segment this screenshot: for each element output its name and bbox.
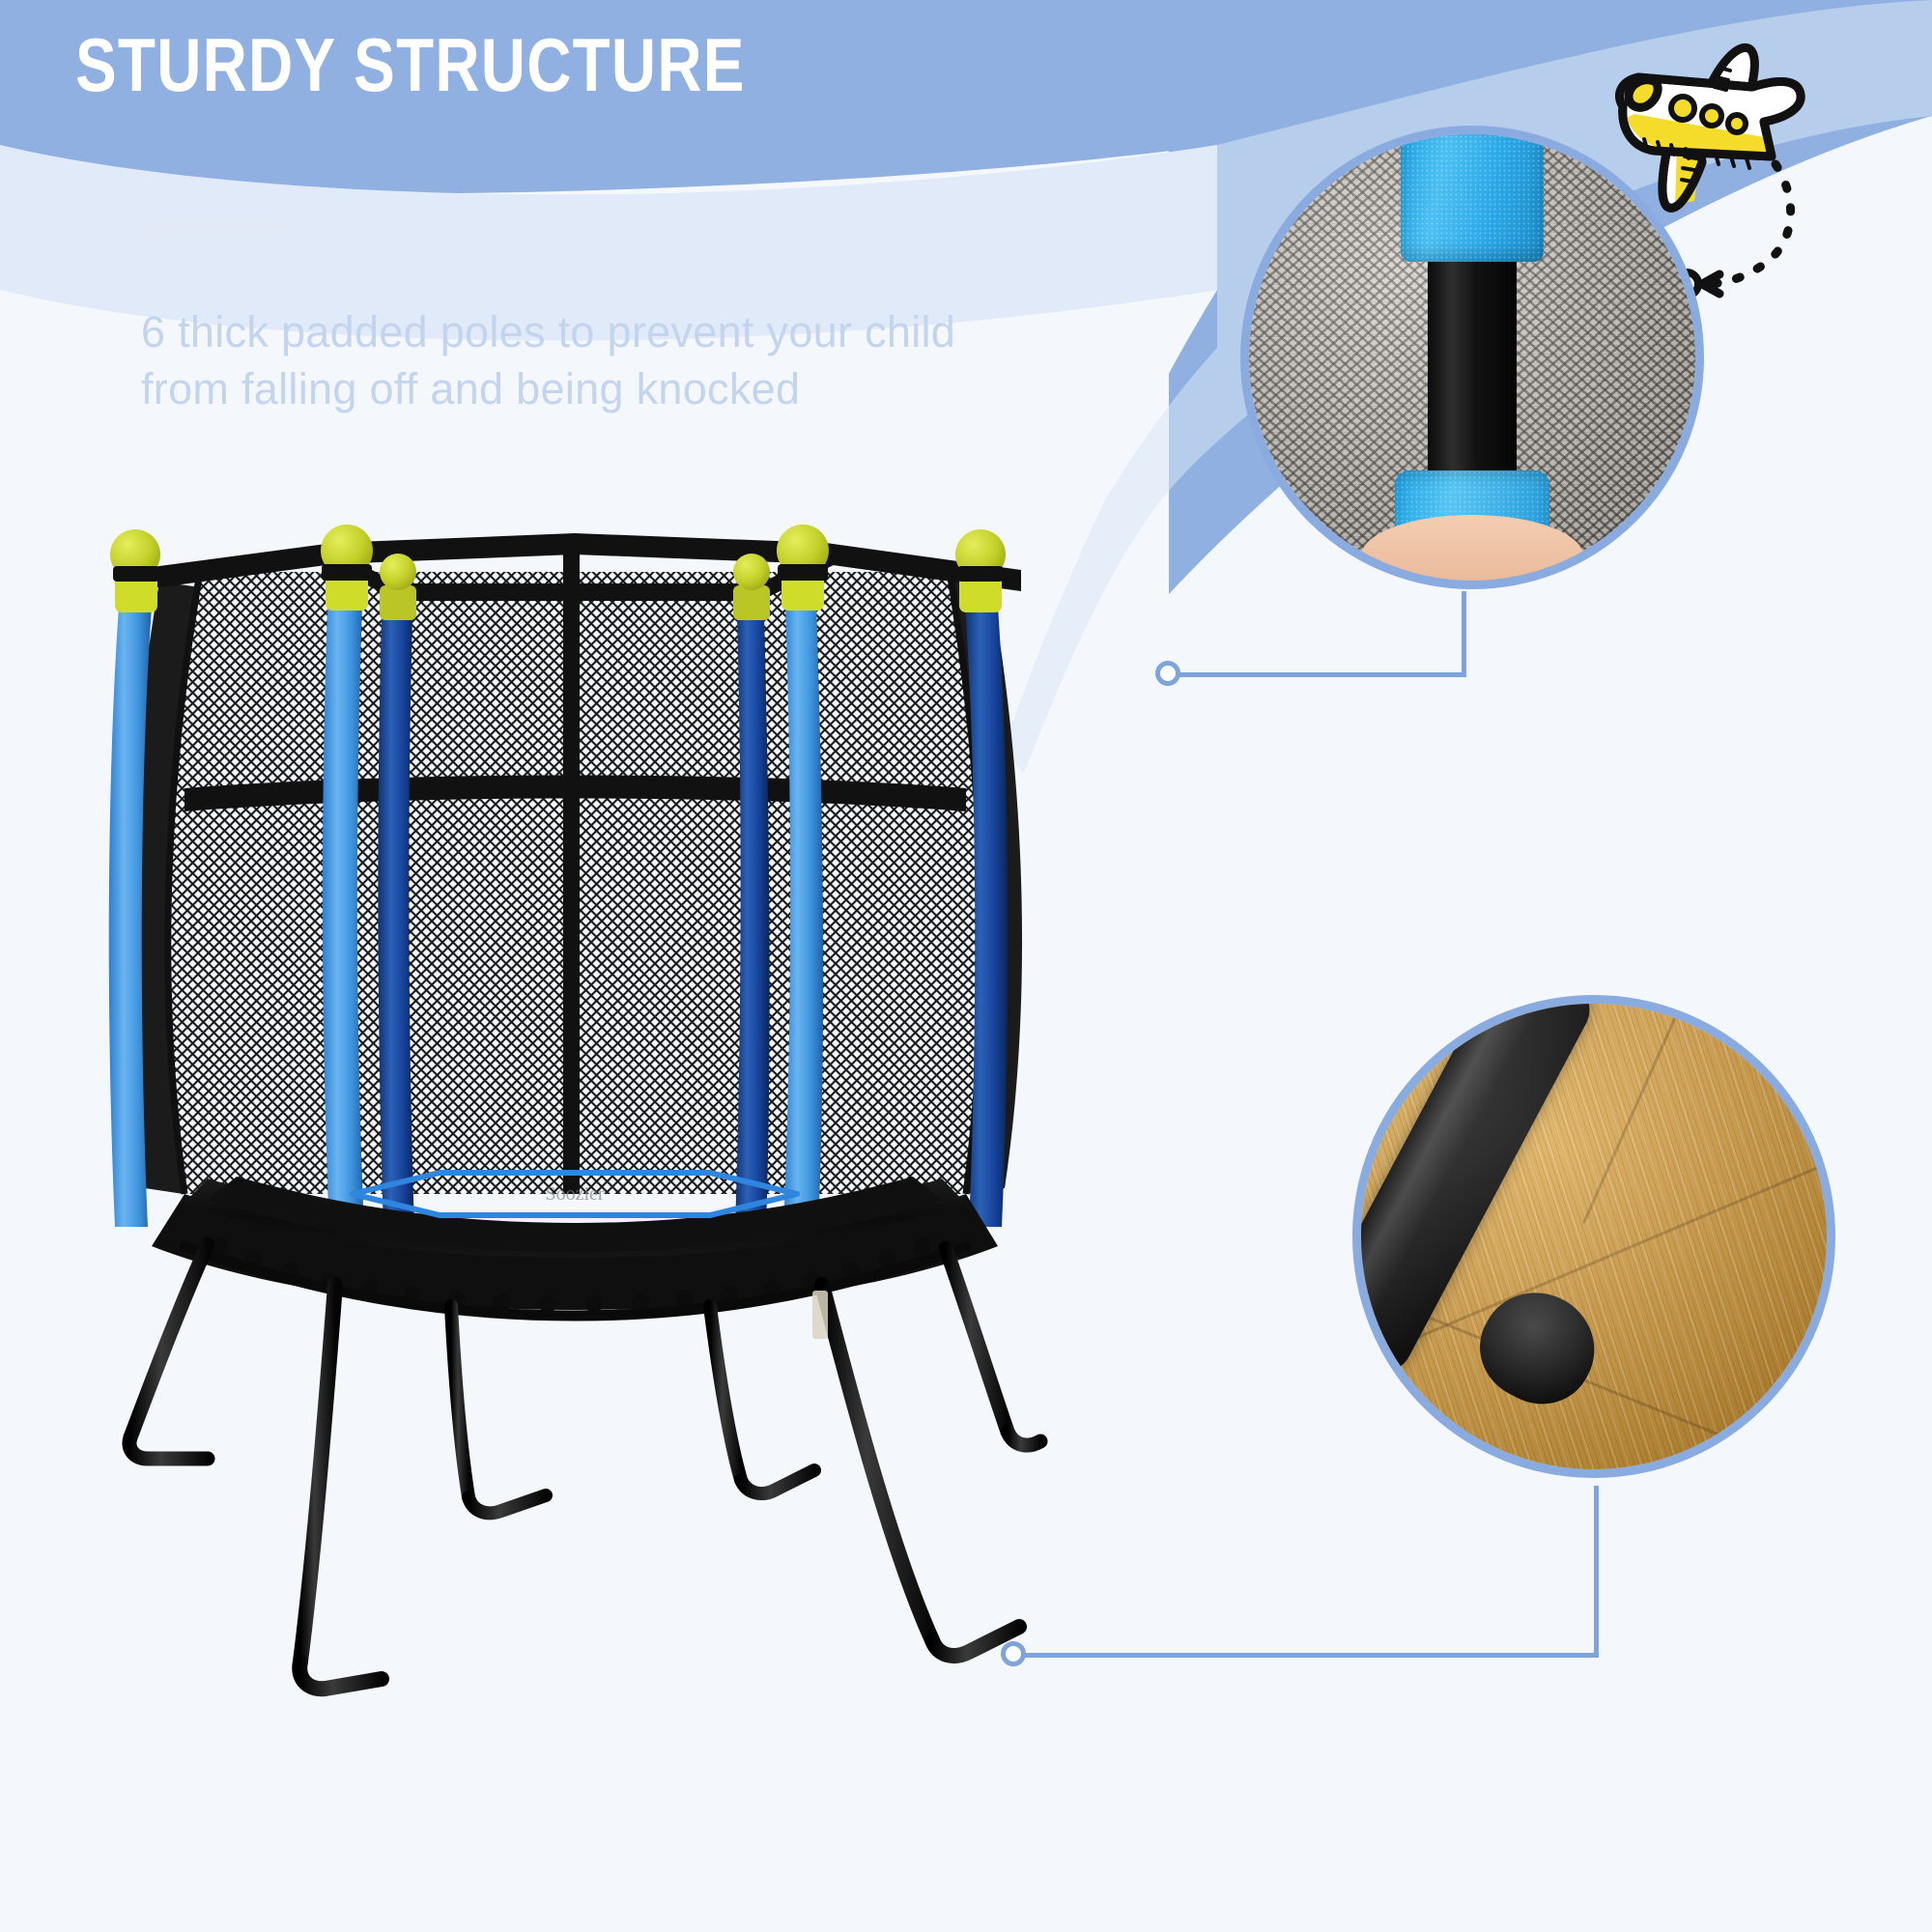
inset-leg-foot — [1352, 995, 1835, 1478]
inset-pole-padding — [1240, 126, 1704, 589]
trampoline-mat: Soozier — [152, 1173, 998, 1310]
leg-warning-label — [812, 1291, 828, 1339]
page-title: STURDY STRUCTURE — [75, 27, 746, 102]
callout-dot-pole — [1155, 661, 1180, 686]
callout-line-leg-vertical — [1594, 1486, 1599, 1658]
black-steel-pole — [1428, 256, 1517, 502]
callout-line-pole-vertical — [1462, 591, 1466, 676]
callout-line-pole-horizontal — [1167, 672, 1466, 677]
title-accent-bar — [143, 220, 286, 237]
body-copy-line-1: 6 thick padded poles to prevent your chi… — [141, 304, 1184, 361]
callout-line-leg-horizontal — [1014, 1653, 1598, 1658]
body-copy: 6 thick padded poles to prevent your chi… — [141, 304, 1184, 417]
marketing-image-canvas: STURDY STRUCTURE 6 thick padded poles to… — [0, 0, 1932, 1932]
trampoline-product-photo: Soozier — [92, 512, 1058, 1932]
body-copy-line-2: from falling off and being knocked — [141, 361, 1184, 418]
child-hand — [1361, 515, 1583, 589]
callout-dot-leg — [1001, 1641, 1026, 1666]
blue-foam-sleeve-top — [1401, 134, 1544, 262]
mat-branding: Soozier — [545, 1183, 604, 1205]
